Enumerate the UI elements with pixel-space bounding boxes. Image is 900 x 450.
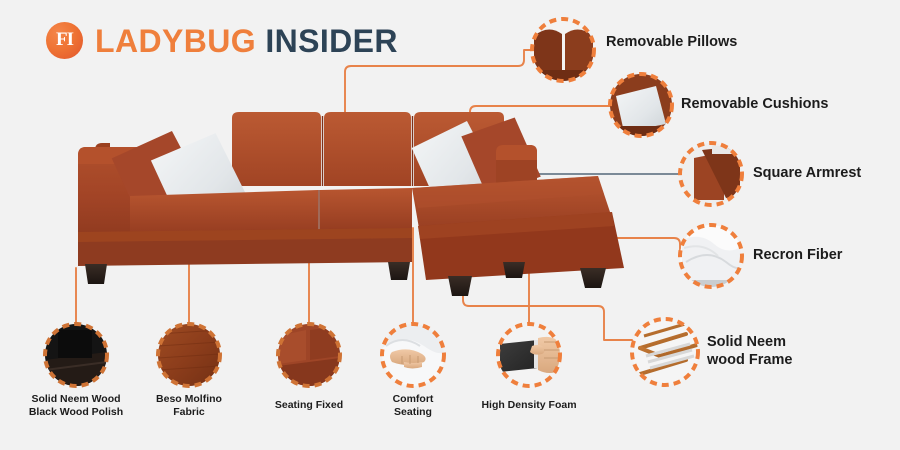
label-beso-molfino-fabric: Beso Molfino Fabric <box>129 393 249 419</box>
label-recron-fiber: Recron Fiber <box>753 247 842 265</box>
leg-chaise-left <box>448 276 472 296</box>
thumb-high-density-foam <box>498 324 560 386</box>
sofa-illustration <box>0 0 900 450</box>
label-removable-pillows: Removable Pillows <box>606 34 737 52</box>
thumb-seating-fixed <box>278 324 340 386</box>
thumb-neem-wood-frame <box>632 319 700 385</box>
label-square-armrest: Square Armrest <box>753 165 861 183</box>
label-solid-neem-wood-frame: Solid Neem wood Frame <box>707 334 792 369</box>
sofa-seat-cushions <box>130 188 412 234</box>
connector-removable-pillows <box>345 50 532 120</box>
thumb-black-wood-polish <box>45 324 107 386</box>
thumb-beso-molfino-fabric <box>158 324 220 386</box>
leg-chaise-right <box>580 268 606 288</box>
sofa-graphic <box>78 112 624 296</box>
leg-mid <box>388 262 410 280</box>
label-high-density-foam: High Density Foam <box>459 399 599 412</box>
label-removable-cushions: Removable Cushions <box>681 96 828 114</box>
thumb-square-armrest <box>680 143 742 205</box>
thumb-comfort-seating <box>382 324 444 386</box>
infographic-canvas: FI LADYBUG INSIDER <box>0 0 900 450</box>
label-solid-neem-wood-black-polish: Solid Neem Wood Black Wood Polish <box>6 393 146 419</box>
label-seating-fixed: Seating Fixed <box>249 399 369 412</box>
label-comfort-seating: Comfort Seating <box>358 393 468 419</box>
leg-back <box>503 262 525 278</box>
thumb-removable-cushions <box>610 74 672 138</box>
thumb-removable-pillows <box>532 19 594 84</box>
thumb-recron-fiber <box>680 225 744 290</box>
leg-front-left <box>85 264 107 284</box>
